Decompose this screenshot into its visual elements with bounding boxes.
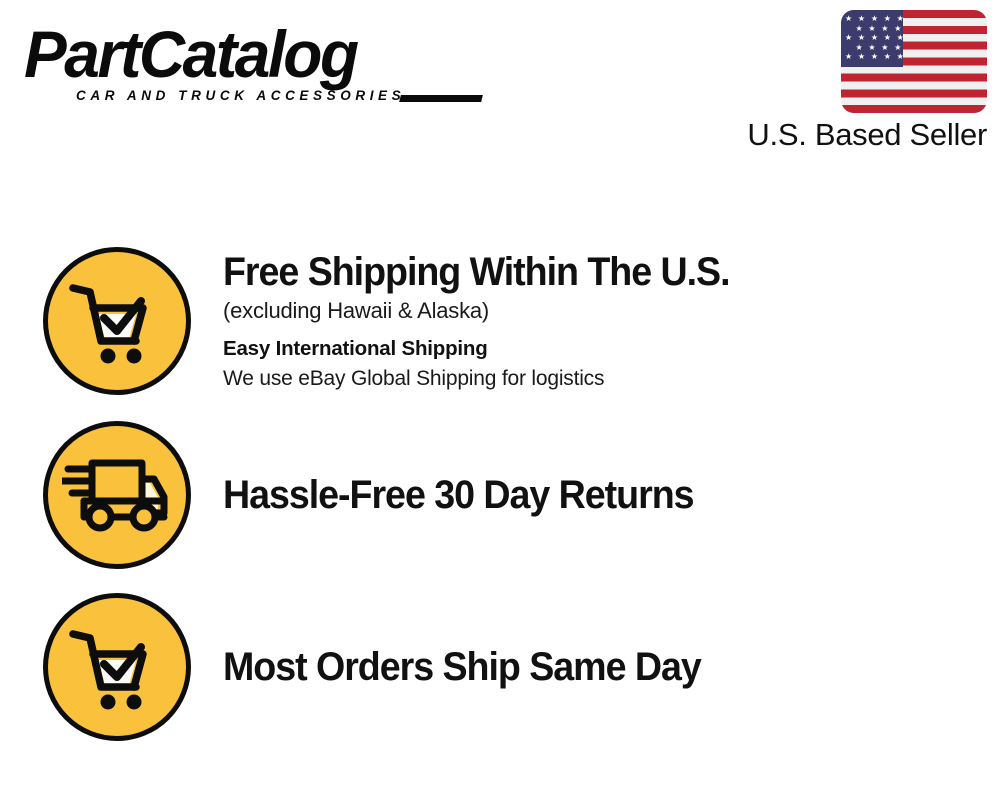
feature-row: Most Orders Ship Same Day <box>0 592 1000 742</box>
feature-headline: Most Orders Ship Same Day <box>223 644 935 690</box>
feature-text-block: Hassle-Free 30 Day Returns <box>223 472 1000 518</box>
shopping-cart-check-icon <box>43 593 191 741</box>
feature-row: Hassle-Free 30 Day Returns <box>0 420 1000 570</box>
flag-stars: ★ ★ ★ ★ ★ ★ ★ ★ ★ ★ ★ ★ ★ ★ ★ ★ ★ ★ ★ ★ … <box>841 10 903 67</box>
feature-note: (excluding Hawaii & Alaska) <box>223 295 980 326</box>
feature-row: Free Shipping Within The U.S. (excluding… <box>0 246 1000 396</box>
feature-headline: Hassle-Free 30 Day Returns <box>223 472 935 518</box>
us-based-seller-badge: ★ ★ ★ ★ ★ ★ ★ ★ ★ ★ ★ ★ ★ ★ ★ ★ ★ ★ ★ ★ … <box>712 10 987 153</box>
feature-text-block: Free Shipping Within The U.S. (excluding… <box>223 249 1000 394</box>
shopping-cart-check-icon <box>43 247 191 395</box>
delivery-truck-icon <box>43 421 191 569</box>
feature-text-block: Most Orders Ship Same Day <box>223 644 1000 690</box>
seller-label: U.S. Based Seller <box>712 117 987 153</box>
us-flag-icon: ★ ★ ★ ★ ★ ★ ★ ★ ★ ★ ★ ★ ★ ★ ★ ★ ★ ★ ★ ★ … <box>841 10 987 113</box>
page-header: PartCatalog CAR AND TRUCK ACCESSORIES ★ … <box>0 0 1000 170</box>
brand-wordmark: PartCatalog <box>24 22 480 86</box>
feature-sub-text: We use eBay Global Shipping for logistic… <box>223 364 980 394</box>
brand-swoosh-decoration <box>399 95 483 102</box>
feature-sub-title: Easy International Shipping <box>223 334 980 364</box>
brand-logo[interactable]: PartCatalog CAR AND TRUCK ACCESSORIES <box>24 22 494 103</box>
feature-headline: Free Shipping Within The U.S. <box>223 249 935 295</box>
